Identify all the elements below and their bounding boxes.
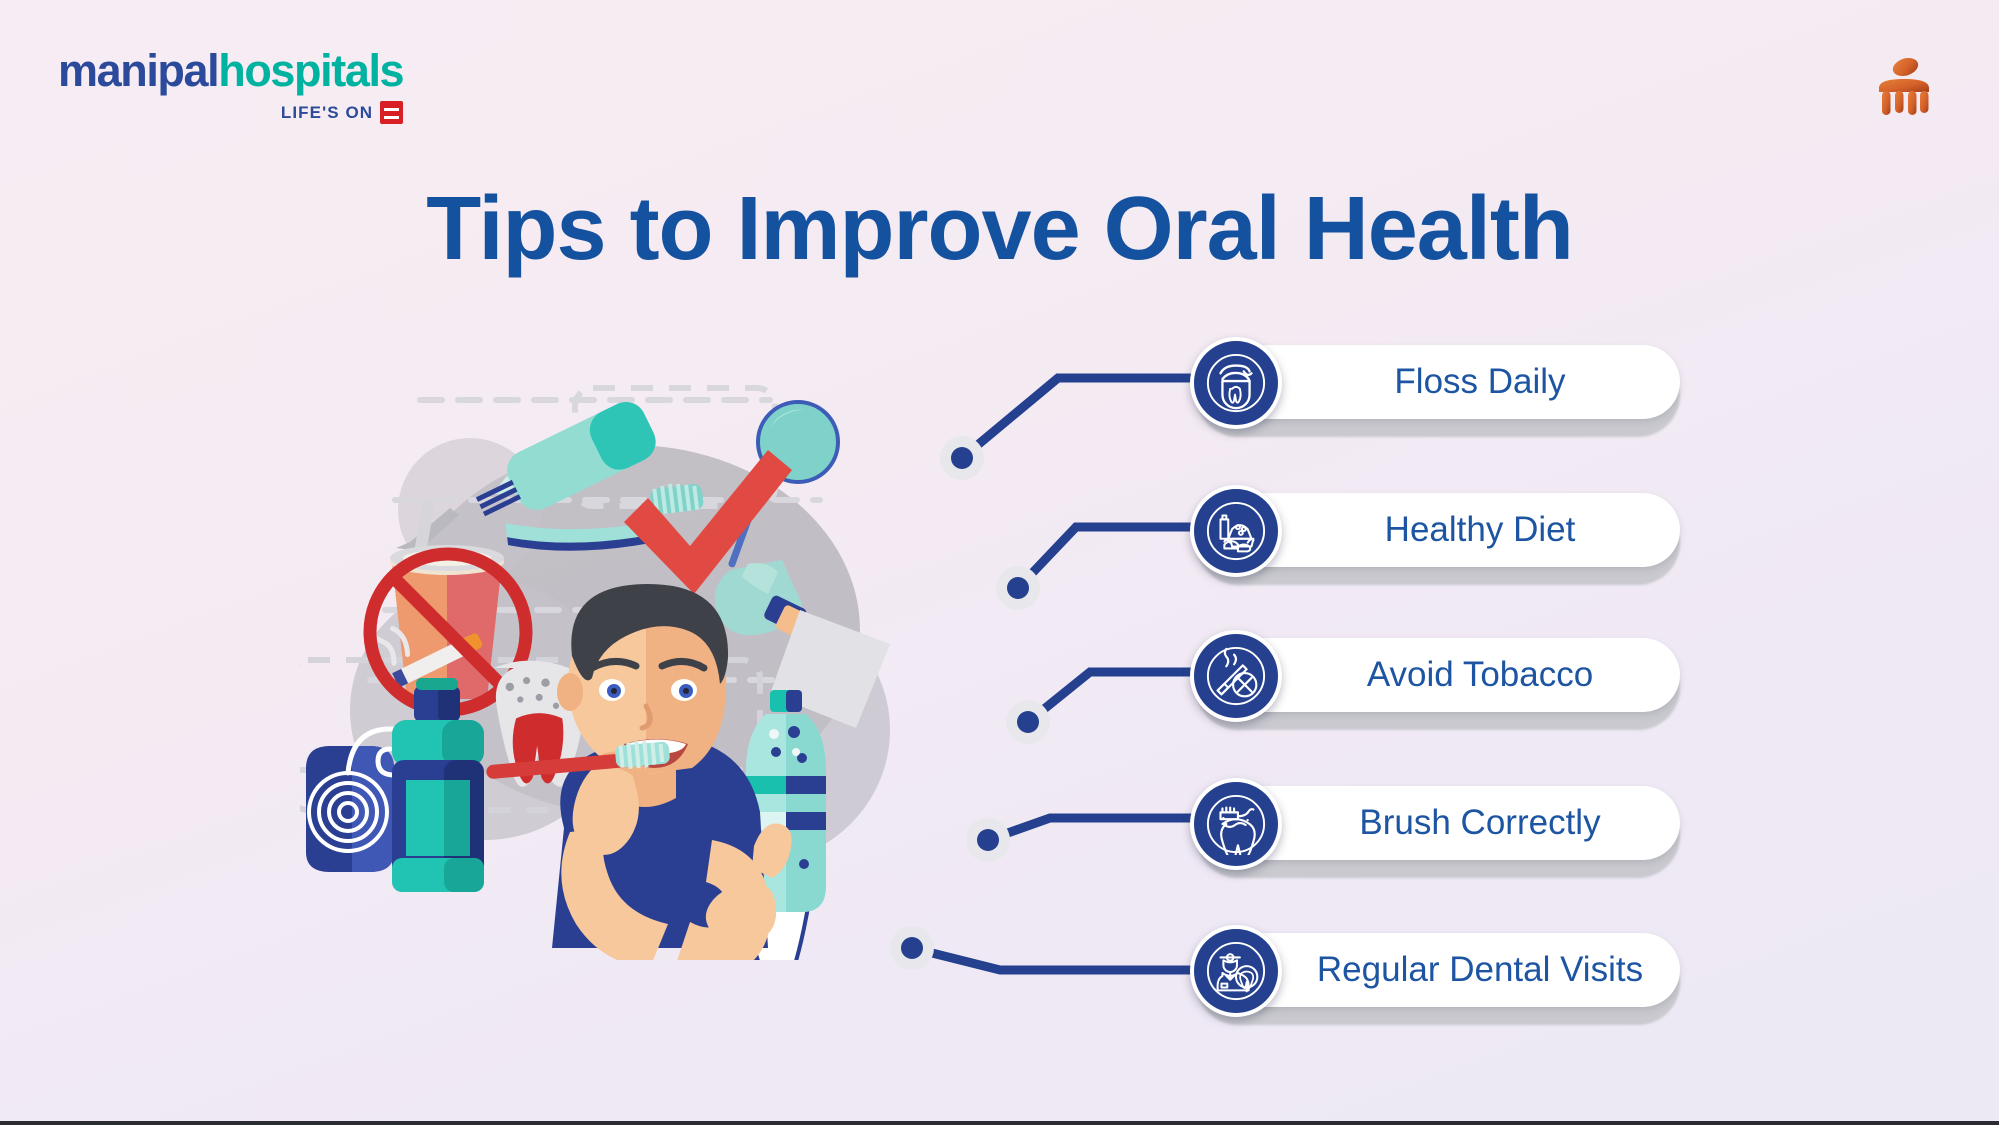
bottom-rule xyxy=(0,1121,1999,1125)
tip-card-label: Healthy Diet xyxy=(1280,493,1680,567)
tip-card-label: Regular Dental Visits xyxy=(1280,933,1680,1007)
tip-card-label: Brush Correctly xyxy=(1280,786,1680,860)
toothbrush-tooth-icon xyxy=(1190,778,1282,870)
dental-floss-tooth-icon xyxy=(1190,337,1282,429)
tip-card-brush-correctly[interactable]: Brush Correctly xyxy=(1190,786,1680,872)
tip-card-label: Avoid Tobacco xyxy=(1280,638,1680,712)
connector-dot-4 xyxy=(966,818,1010,862)
brand-logo: manipalhospitals LIFE'S ON xyxy=(58,48,403,124)
healthy-food-basket-icon xyxy=(1190,485,1282,577)
brand-logo-manipal: manipal xyxy=(58,45,218,96)
dentist-icon xyxy=(1190,925,1282,1017)
brand-tagline-text: LIFE'S ON xyxy=(281,103,373,123)
red-cross-icon xyxy=(380,101,403,124)
tip-card-healthy-diet[interactable]: Healthy Diet xyxy=(1190,493,1680,579)
brand-tagline: LIFE'S ON xyxy=(58,101,403,124)
tip-card-floss-daily[interactable]: Floss Daily xyxy=(1190,345,1680,431)
connector-dot-3 xyxy=(1006,700,1050,744)
connector-line-5 xyxy=(912,948,1232,970)
brand-logo-hospitals: hospitals xyxy=(218,45,403,96)
oral-health-illustration xyxy=(300,380,960,960)
brand-logo-wordmark: manipalhospitals xyxy=(58,48,403,93)
manipal-brand-mark-icon xyxy=(1869,50,1939,120)
connector-dot-2 xyxy=(996,566,1040,610)
tip-card-regular-dental-visits[interactable]: Regular Dental Visits xyxy=(1190,933,1680,1019)
no-smoking-icon xyxy=(1190,630,1282,722)
tip-card-avoid-tobacco[interactable]: Avoid Tobacco xyxy=(1190,638,1680,724)
tip-card-label: Floss Daily xyxy=(1280,345,1680,419)
page-title: Tips to Improve Oral Health xyxy=(0,178,1999,281)
